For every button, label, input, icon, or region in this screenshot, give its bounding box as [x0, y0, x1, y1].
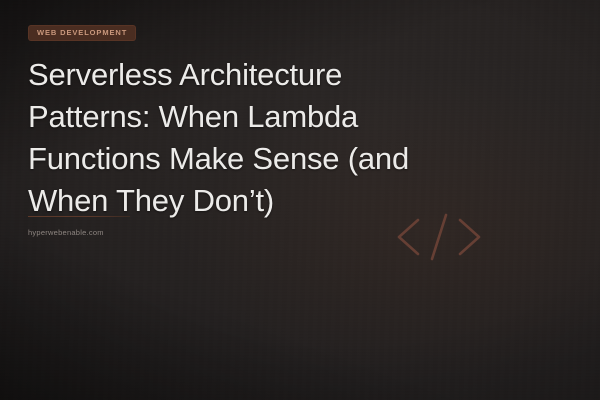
page-title: Serverless Architecture Patterns: When L… — [28, 54, 458, 222]
title-divider — [28, 216, 130, 217]
card-content: WEB DEVELOPMENT Serverless Architecture … — [0, 0, 600, 400]
category-badge-label: WEB DEVELOPMENT — [37, 29, 127, 37]
category-badge[interactable]: WEB DEVELOPMENT — [28, 25, 136, 41]
site-domain-label: hyperwebenable.com — [28, 229, 104, 237]
article-cover-card: WEB DEVELOPMENT Serverless Architecture … — [0, 0, 600, 400]
code-tag-icon — [393, 211, 485, 263]
